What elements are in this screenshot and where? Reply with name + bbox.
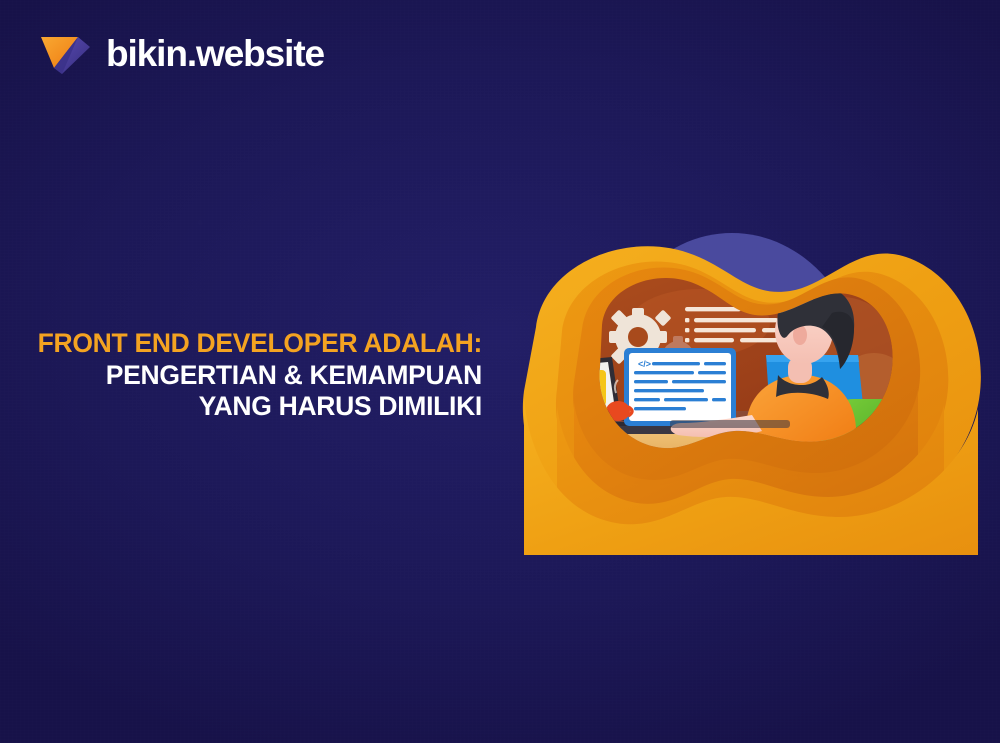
arrow-mark-icon	[38, 30, 90, 76]
brand-name: bikin.website	[106, 35, 324, 72]
banner-canvas: bikin.website FRONT END DEVELOPER ADALAH…	[0, 0, 1000, 743]
headline-line-1: FRONT END DEVELOPER ADALAH:	[0, 330, 482, 357]
page-title: FRONT END DEVELOPER ADALAH: PENGERTIAN &…	[0, 330, 492, 420]
brand-logo[interactable]: bikin.website	[38, 30, 324, 76]
illustration-front-end-developer: { } </>	[470, 215, 1000, 555]
code-tag-icon: </>	[638, 359, 651, 369]
headline-line-3: YANG HARUS DIMILIKI	[0, 393, 482, 420]
headline-line-2: PENGERTIAN & KEMAMPUAN	[0, 362, 482, 389]
keyboard-shadow	[670, 420, 790, 428]
